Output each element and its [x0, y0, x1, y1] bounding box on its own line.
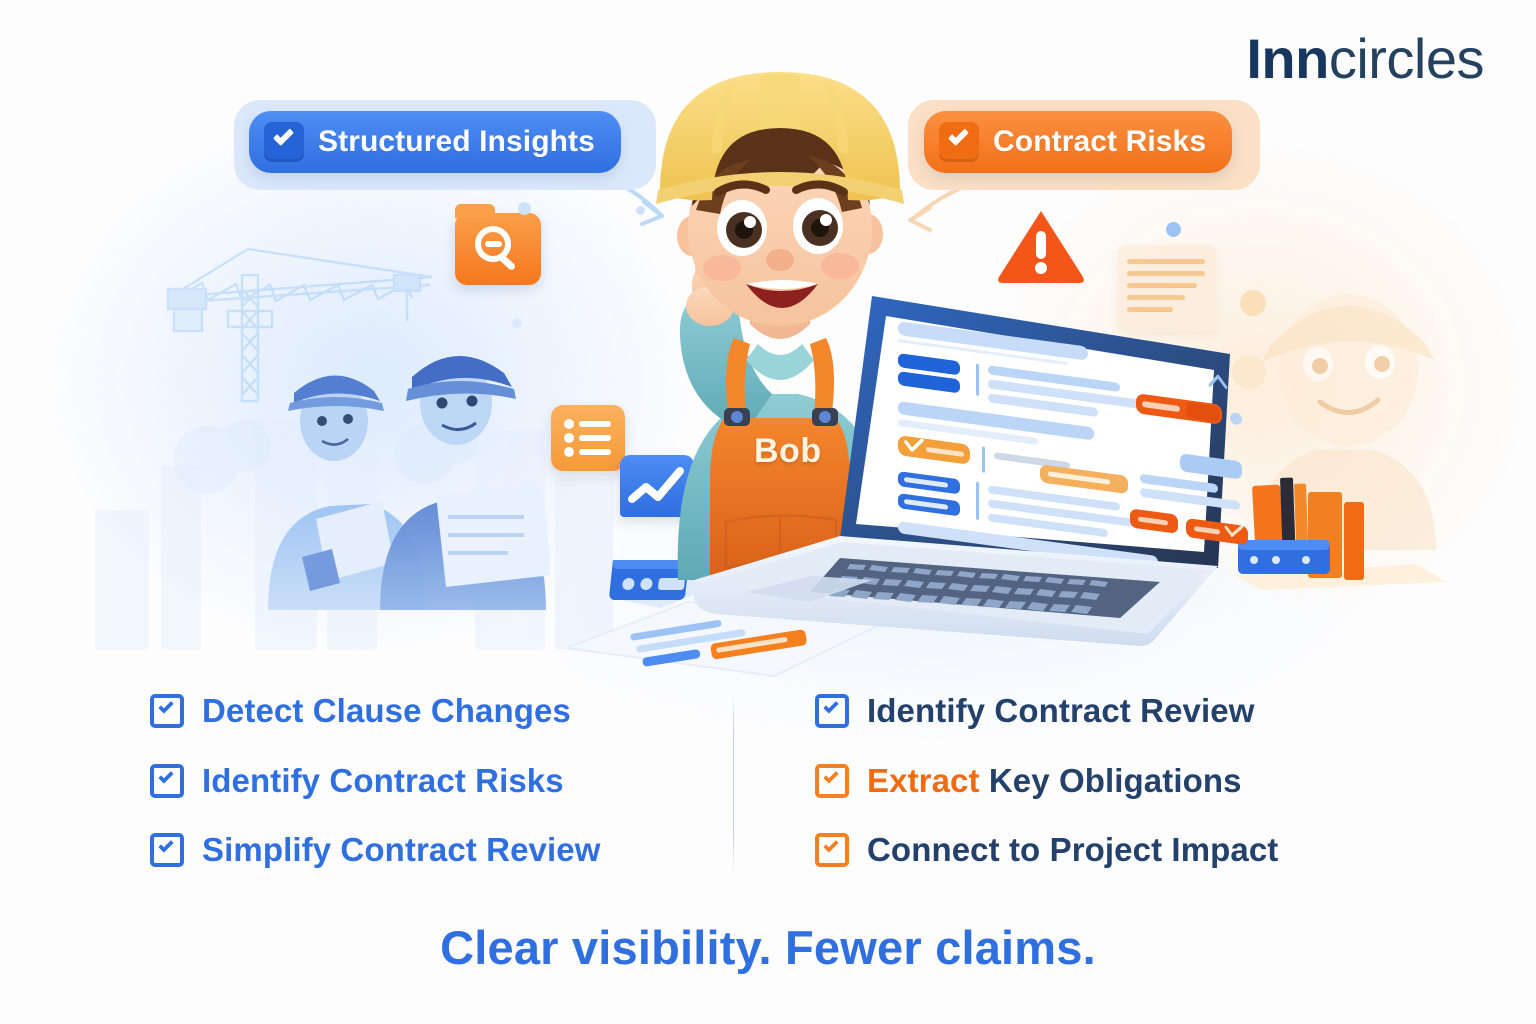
background-workers-illustration	[250, 325, 550, 610]
badge-structured-insights[interactable]: Structured Insights	[249, 111, 621, 173]
tagline: Clear visibility. Fewer claims.	[0, 920, 1536, 975]
decorative-dot	[1166, 222, 1181, 237]
decorative-dot	[518, 202, 531, 215]
feature-label: Identify Contract Review	[867, 692, 1254, 730]
feature-label-rest	[980, 762, 989, 799]
checkbox-icon	[150, 833, 184, 867]
feature-column-left: Detect Clause Changes Identify Contract …	[150, 683, 765, 878]
feature-item-extract-key-obligations[interactable]: Extract Key Obligations	[815, 753, 1390, 809]
feature-label: Extract Key Obligations	[867, 762, 1242, 800]
feature-column-right: Identify Contract Review Extract Key Obl…	[765, 683, 1390, 878]
feature-label: Connect to Project Impact	[867, 831, 1278, 869]
feature-item-detect-clause-changes[interactable]: Detect Clause Changes	[150, 683, 725, 739]
brand-logo: Inncircles	[1246, 26, 1484, 91]
feature-label: Simplify Contract Review	[202, 831, 601, 869]
feature-label-highlight: Extract	[867, 762, 980, 799]
feature-label-tail: Key Obligations	[989, 762, 1242, 799]
feature-item-simplify-contract-review[interactable]: Simplify Contract Review	[150, 822, 725, 878]
feature-item-connect-to-project-impact[interactable]: Connect to Project Impact	[815, 822, 1390, 878]
badge-contract-risks[interactable]: Contract Risks	[924, 111, 1232, 173]
books-and-binders-illustration	[1236, 460, 1446, 590]
badge-structured-insights-label: Structured Insights	[318, 125, 595, 159]
feature-item-identify-contract-review[interactable]: Identify Contract Review	[815, 683, 1390, 739]
logo-light-text: circles	[1329, 27, 1484, 90]
checkbox-icon	[815, 764, 849, 798]
feature-label: Identify Contract Risks	[202, 762, 564, 800]
feature-label: Detect Clause Changes	[202, 692, 571, 730]
feature-list: Detect Clause Changes Identify Contract …	[150, 683, 1390, 878]
checkbox-icon	[815, 694, 849, 728]
checkbox-icon	[815, 833, 849, 867]
badge-contract-risks-label: Contract Risks	[993, 125, 1206, 159]
check-icon	[264, 122, 304, 162]
feature-item-identify-contract-risks[interactable]: Identify Contract Risks	[150, 753, 725, 809]
decorative-dot	[512, 318, 522, 328]
laptop-illustration	[690, 280, 1250, 660]
folder-search-icon	[455, 213, 541, 285]
checkbox-icon	[150, 694, 184, 728]
checkbox-icon	[150, 764, 184, 798]
logo-strong-text: Inn	[1246, 27, 1328, 90]
